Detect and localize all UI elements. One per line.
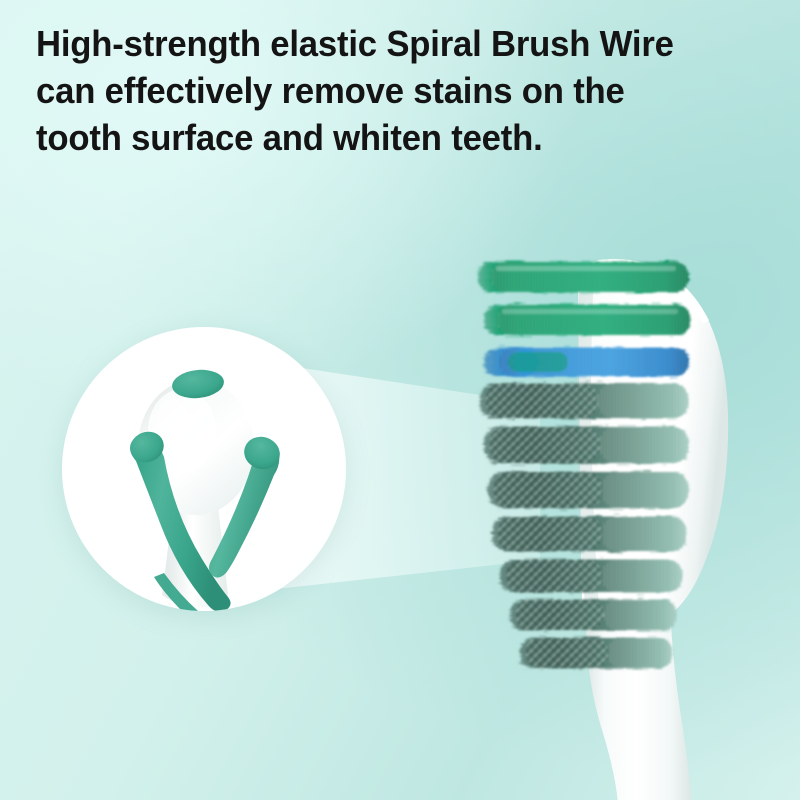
- headline-line-3: tooth surface and whiten teeth.: [36, 114, 720, 161]
- magnified-filament-illustration: [62, 327, 346, 611]
- toothbrush-head: [430, 230, 800, 800]
- product-feature-image: High-strength elastic Spiral Brush Wire …: [0, 0, 800, 800]
- magnifier-circle: [62, 327, 346, 611]
- headline-line-1: High-strength elastic Spiral Brush Wire: [36, 20, 720, 67]
- headline-line-2: can effectively remove stains on the: [36, 67, 720, 114]
- headline: High-strength elastic Spiral Brush Wire …: [36, 20, 720, 161]
